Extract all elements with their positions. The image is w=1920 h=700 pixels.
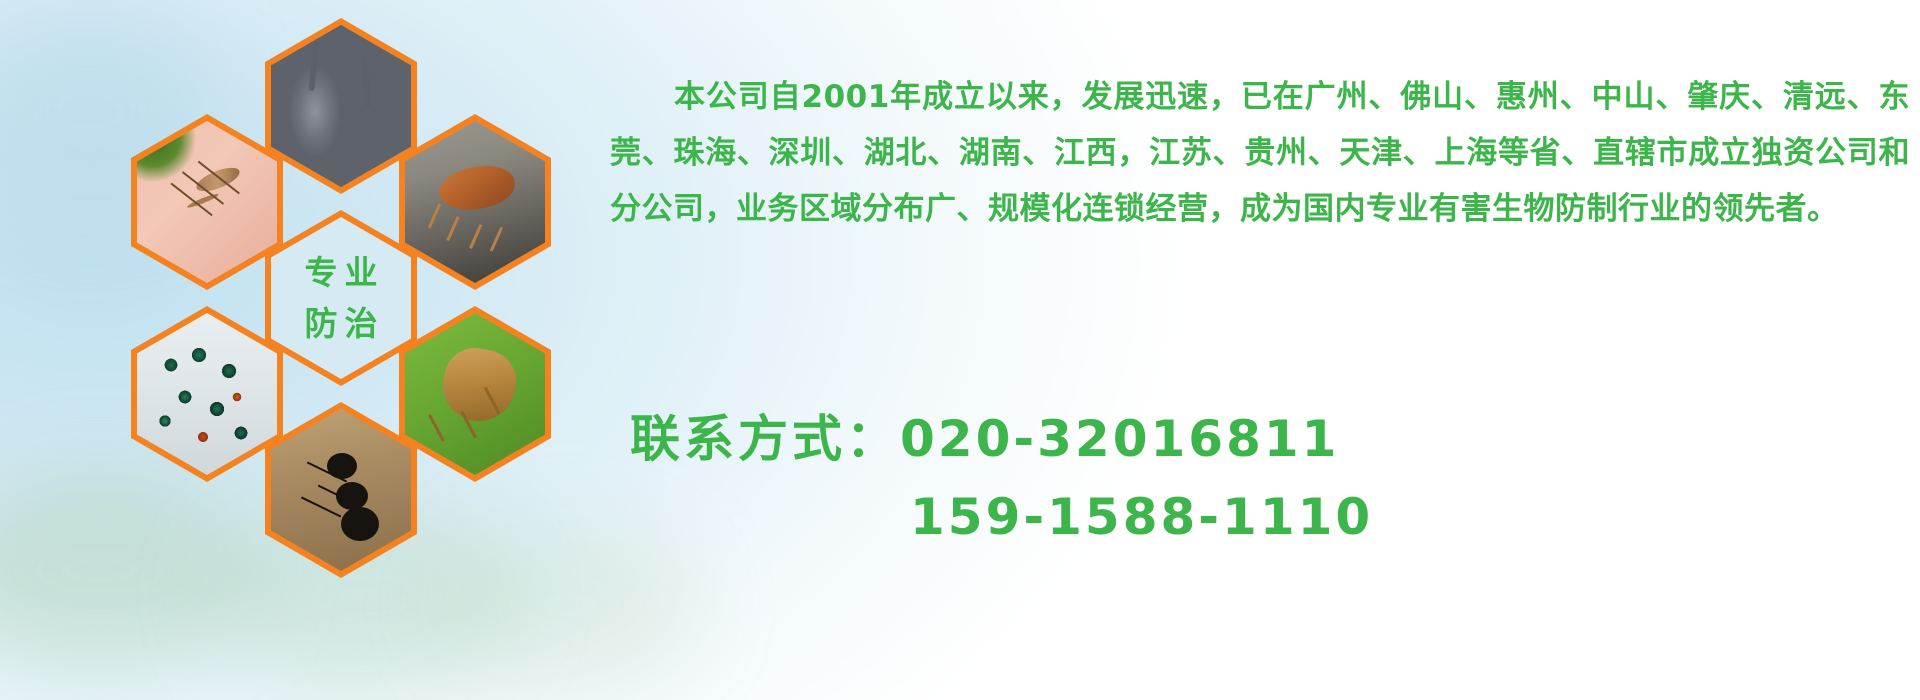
hex-flies-photo [131, 306, 283, 482]
hex-ant-photo-inner [271, 409, 411, 571]
contact-row-secondary: 159-1588-1110 [610, 478, 1910, 556]
hex-logo-center: 专业 防治 [265, 210, 417, 386]
hex-ant-photo [265, 402, 417, 578]
contact-phone-secondary[interactable]: 159-1588-1110 [910, 488, 1373, 546]
contact-block: 联系方式：020-32016811 159-1588-1110 [610, 400, 1910, 556]
logo-text-line-2: 防治 [298, 298, 385, 349]
hex-stinkbug-photo [399, 306, 551, 482]
ant-illustration [271, 409, 411, 571]
mosquito-illustration [137, 121, 277, 283]
hex-rats-photo [265, 18, 417, 194]
contact-phone-primary[interactable]: 020-32016811 [900, 410, 1339, 468]
hex-flies-photo-inner [137, 313, 277, 475]
cockroach-illustration [405, 121, 545, 283]
hexagon-photo-cluster: 专业 防治 [95, 0, 595, 570]
rats-illustration [271, 25, 411, 187]
hex-rats-photo-inner [271, 25, 411, 187]
hex-cockroach-photo-inner [405, 121, 545, 283]
hex-mosquito-photo [131, 114, 283, 290]
contact-row-primary: 联系方式：020-32016811 [610, 400, 1910, 478]
company-about-paragraph: 本公司自2001年成立以来，发展迅速，已在广州、佛山、惠州、中山、肇庆、清远、东… [610, 69, 1910, 237]
hex-stinkbug-photo-inner [405, 313, 545, 475]
pest-control-banner: 专业 防治 本公司自2001年成立以来，发展迅速，已在广州、佛山、惠州、中山、肇… [0, 0, 1920, 700]
contact-label: 联系方式： [630, 410, 900, 468]
logo-text-line-1: 专业 [298, 247, 385, 298]
hex-logo-center-inner: 专业 防治 [271, 217, 411, 379]
flies-illustration [137, 313, 277, 475]
hex-mosquito-photo-inner [137, 121, 277, 283]
stinkbug-illustration [405, 313, 545, 475]
banner-content: 本公司自2001年成立以来，发展迅速，已在广州、佛山、惠州、中山、肇庆、清远、东… [610, 0, 1920, 700]
hex-cockroach-photo [399, 114, 551, 290]
